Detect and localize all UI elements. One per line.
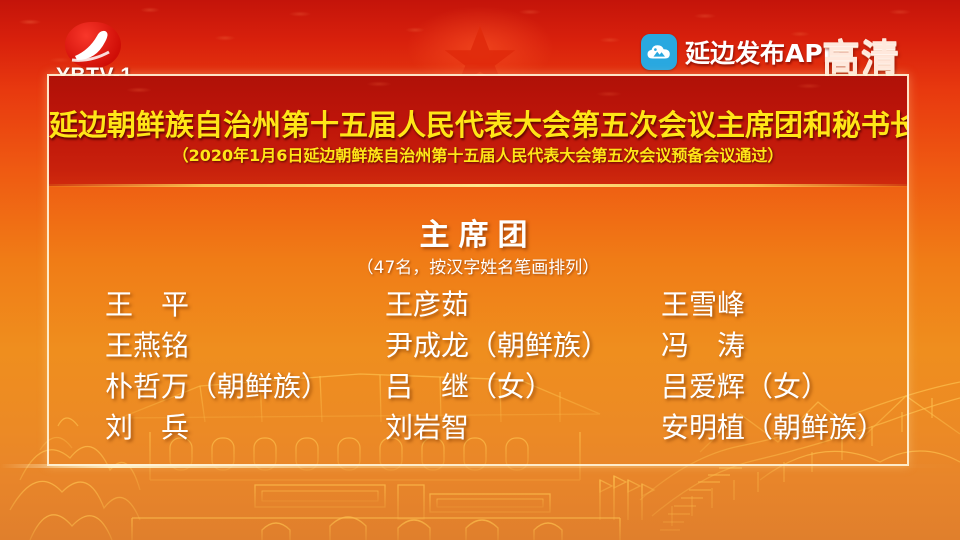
app-promo-badge[interactable]: 延边发布APP bbox=[641, 33, 841, 71]
section-note: （47名，按汉字姓名笔画排列） bbox=[49, 253, 907, 278]
name-cell: 尹成龙（朝鲜族） bbox=[385, 324, 661, 364]
name-cell: 吕 继（女） bbox=[385, 365, 661, 405]
list-row: 王 平 王彦茹 王雪峰 bbox=[105, 282, 909, 323]
name-cell: 吕爱辉（女） bbox=[661, 365, 909, 405]
name-cell: 刘岩智 bbox=[385, 406, 661, 446]
name-cell: 王彦茹 bbox=[385, 283, 661, 323]
name-cell: 朴哲万（朝鲜族） bbox=[105, 365, 385, 405]
name-cell: 王雪峰 bbox=[661, 283, 909, 323]
name-cell: 王 平 bbox=[105, 283, 385, 323]
name-cell: 刘 兵 bbox=[105, 406, 385, 446]
list-row: 朴哲万（朝鲜族） 吕 继（女） 吕爱辉（女） bbox=[105, 364, 909, 405]
list-row: 王燕铭 尹成龙（朝鲜族） 冯 涛 bbox=[105, 323, 909, 364]
cloud-mountain-icon bbox=[641, 34, 677, 70]
gold-divider bbox=[49, 184, 907, 187]
list-row: 刘 兵 刘岩智 安明植（朝鲜族） bbox=[105, 405, 909, 446]
page-subtitle: （2020年1月6日延边朝鲜族自治州第十五届人民代表大会第五次会议预备会议通过） bbox=[49, 142, 907, 166]
name-list: 王 平 王彦茹 王雪峰 王燕铭 尹成龙（朝鲜族） 冯 涛 朴哲万（朝鲜族） 吕 … bbox=[105, 282, 909, 446]
section-heading: 主席团 bbox=[49, 210, 907, 254]
ybtv-swoosh-icon bbox=[65, 22, 121, 68]
broadcast-screen: YBTV-1 延边发布APP 高清 延边朝鲜族自治州第十五届人民代表大会第五次会… bbox=[0, 0, 960, 540]
app-name-label: 延边发布APP bbox=[685, 34, 841, 70]
page-title: 延边朝鲜族自治州第十五届人民代表大会第五次会议主席团和秘书长名单 bbox=[49, 102, 907, 144]
name-cell: 安明植（朝鲜族） bbox=[661, 406, 909, 446]
name-cell: 冯 涛 bbox=[661, 324, 909, 364]
lower-third-panel: 延边朝鲜族自治州第十五届人民代表大会第五次会议主席团和秘书长名单 （2020年1… bbox=[47, 74, 909, 466]
name-cell: 王燕铭 bbox=[105, 324, 385, 364]
